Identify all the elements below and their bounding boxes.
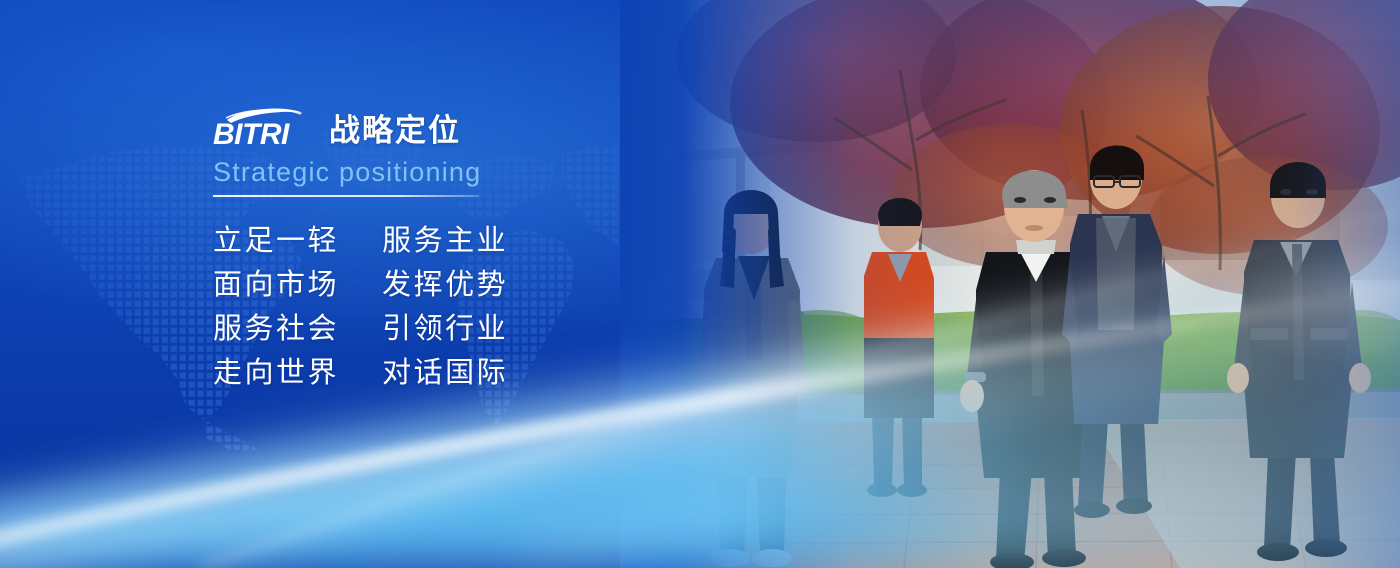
svg-text:BITRI: BITRI [213, 118, 290, 150]
slogan-4-right: 对话国际 [382, 357, 508, 389]
slogan-2-left: 面向市场 [213, 269, 339, 301]
slogan-line-4: 走向世界 对话国际 [213, 351, 773, 395]
slogan-line-2: 面向市场 发挥优势 [213, 263, 773, 307]
title-divider [213, 195, 479, 197]
slogan-1-right: 服务主业 [382, 225, 508, 257]
bitri-logo: BITRI [213, 106, 313, 150]
slogan-4-left: 走向世界 [213, 357, 339, 389]
strategic-positioning-banner: BITRI 战略定位 Strategic positioning 立足一轻 服务… [0, 0, 1400, 568]
slogan-3-right: 引领行业 [382, 313, 508, 345]
slogan-1-left: 立足一轻 [213, 225, 339, 257]
slogan-line-3: 服务社会 引领行业 [213, 307, 773, 351]
slogan-list: 立足一轻 服务主业 面向市场 发挥优势 服务社会 引领行业 走向世界 对话国际 [213, 219, 773, 395]
banner-title-cn: 战略定位 [329, 114, 461, 150]
banner-subtitle-en: Strategic positioning [213, 156, 773, 188]
banner-text-block: BITRI 战略定位 Strategic positioning 立足一轻 服务… [213, 104, 773, 395]
slogan-2-right: 发挥优势 [382, 269, 508, 301]
slogan-line-1: 立足一轻 服务主业 [213, 219, 773, 263]
title-row: BITRI 战略定位 [213, 104, 773, 150]
slogan-3-left: 服务社会 [213, 313, 339, 345]
